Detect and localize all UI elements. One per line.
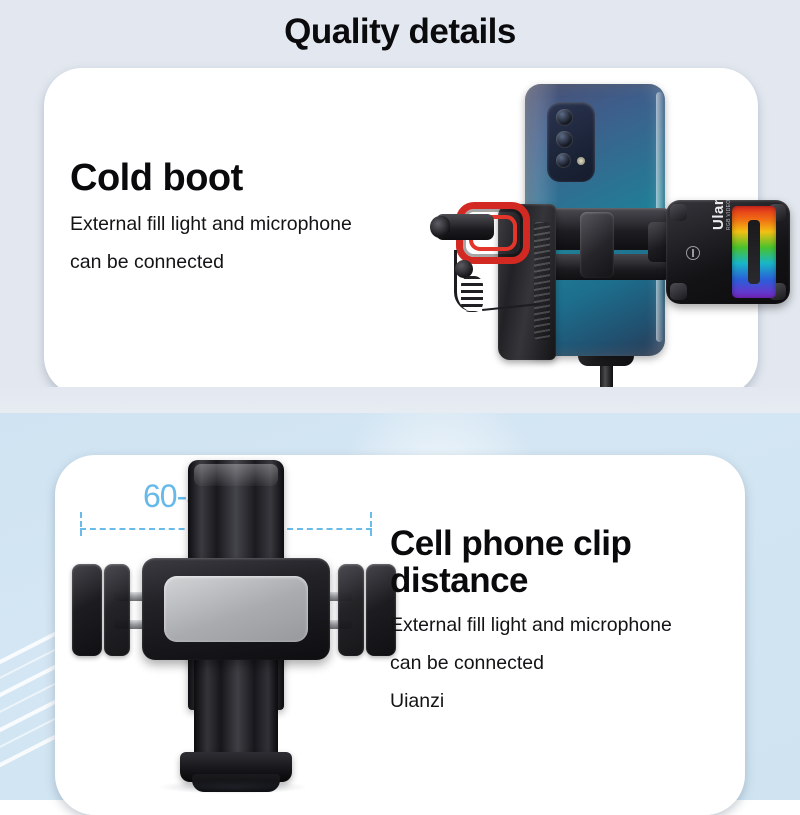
product-image-cold-boot: Ulanzi RGB VIDEO LIGHT xyxy=(430,72,760,413)
rgb-color-strip xyxy=(732,206,776,298)
text-block-clip-distance: Cell phone clip distance External fill l… xyxy=(390,525,750,720)
ulanzi-mark-icon xyxy=(686,246,700,260)
rail-highlight xyxy=(194,464,278,486)
light-corner xyxy=(670,204,687,221)
camera-module xyxy=(547,102,595,182)
clamp-jaw xyxy=(72,564,102,656)
camera-lens-icon xyxy=(556,153,571,168)
camera-lens-icon xyxy=(556,109,573,126)
microphone-cable xyxy=(454,250,488,312)
clamp-grip-texture xyxy=(534,222,550,340)
product-image-clip-distance xyxy=(68,452,398,800)
top-section: Quality details xyxy=(0,0,800,413)
body-line: External fill light and microphone xyxy=(70,205,450,243)
body-line: can be connected xyxy=(70,243,450,281)
body-line: External fill light and microphone xyxy=(390,606,750,644)
brand-name: Uianzi xyxy=(390,682,750,720)
headline-cold-boot: Cold boot xyxy=(70,156,450,200)
clamp-center-body xyxy=(142,558,330,660)
clamp-arm-right xyxy=(334,564,396,656)
clamp-hinge xyxy=(580,212,614,278)
page-title: Quality details xyxy=(0,12,800,52)
clamp-jaw xyxy=(338,564,364,656)
clamp-jaw xyxy=(104,564,130,656)
product-shadow xyxy=(158,780,308,794)
headline-clip-distance-line2: distance xyxy=(390,562,750,599)
ulanzi-logo-text: Ulanzi xyxy=(710,200,727,230)
light-diffuser-slot xyxy=(748,220,760,284)
camera-lens-icon xyxy=(556,131,573,148)
camera-flash-icon xyxy=(577,157,585,165)
clamp-arm-left xyxy=(72,564,134,656)
clamp-center-pad xyxy=(164,576,308,642)
headline-clip-distance-line1: Cell phone clip xyxy=(390,525,750,562)
text-block-cold-boot: Cold boot External fill light and microp… xyxy=(70,156,450,281)
coiled-cable xyxy=(461,276,483,312)
body-line: can be connected xyxy=(390,644,750,682)
rgb-video-light: Ulanzi RGB VIDEO LIGHT xyxy=(666,200,790,304)
light-corner xyxy=(670,283,687,300)
clamp-vertical-rail-bottom xyxy=(194,652,278,764)
